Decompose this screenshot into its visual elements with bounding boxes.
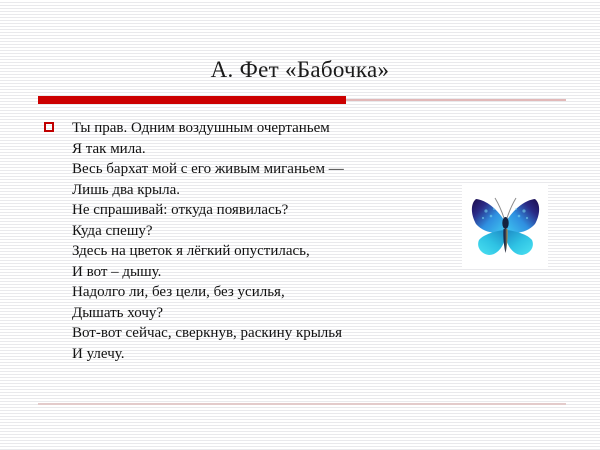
poem-line: Дышать хочу? bbox=[72, 303, 444, 324]
footer-divider bbox=[38, 403, 566, 405]
poem-line: Ты прав. Одним воздушным очертаньем bbox=[72, 118, 444, 139]
header-divider bbox=[38, 96, 566, 104]
poem-line: И улечу. bbox=[72, 344, 444, 365]
poem-line: Надолго ли, без цели, без усилья, bbox=[72, 282, 444, 303]
poem-line: Куда спешу? bbox=[72, 221, 444, 242]
header-divider-thick-segment bbox=[38, 96, 346, 104]
butterfly-image bbox=[462, 185, 548, 267]
poem-line: И вот – дышу. bbox=[72, 262, 444, 283]
poem-body: Ты прав. Одним воздушным очертаньем Я та… bbox=[44, 118, 444, 364]
poem-line-list: Ты прав. Одним воздушным очертаньем Я та… bbox=[72, 118, 444, 364]
poem-line: Вот-вот сейчас, сверкнув, раскину крылья bbox=[72, 323, 444, 344]
butterfly-icon bbox=[462, 185, 548, 267]
poem-line: Я так мила. bbox=[72, 139, 444, 160]
slide-title: А. Фет «Бабочка» bbox=[0, 57, 600, 83]
poem-line: Лишь два крыла. bbox=[72, 180, 444, 201]
poem-line: Не спрашивай: откуда появилась? bbox=[72, 200, 444, 221]
poem-line: Весь бархат мой с его живым миганьем — bbox=[72, 159, 444, 180]
poem-line: Здесь на цветок я лёгкий опустилась, bbox=[72, 241, 444, 262]
presentation-slide: А. Фет «Бабочка» Ты прав. Одним воздушны… bbox=[0, 0, 600, 450]
header-divider-thin-segment bbox=[346, 99, 566, 101]
red-square-bullet-icon bbox=[44, 122, 54, 132]
